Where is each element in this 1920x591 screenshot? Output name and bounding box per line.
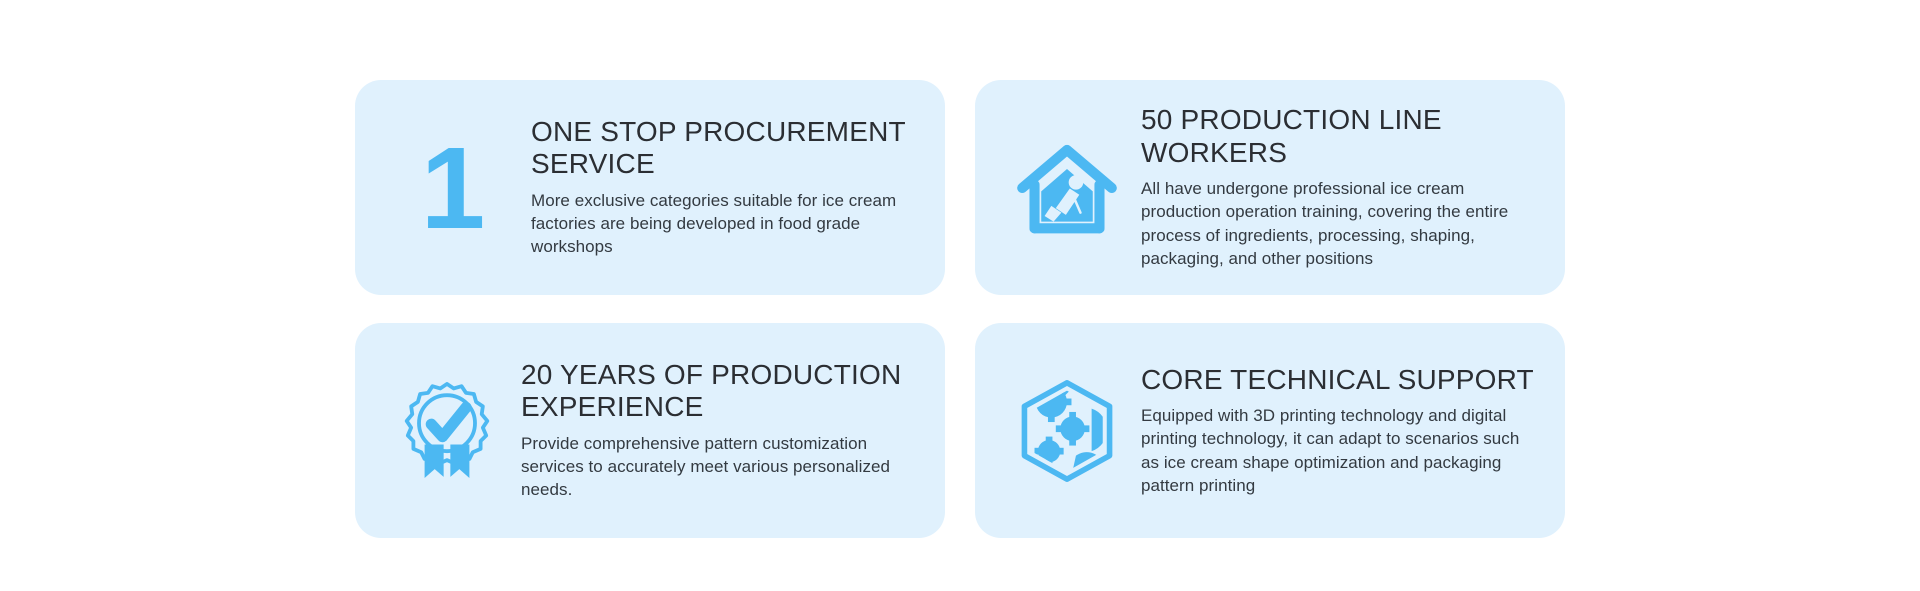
feature-card-production-line-workers[interactable]: 50 PRODUCTION LINE WORKERS All have unde… — [975, 80, 1565, 295]
feature-highlights-page: 1 ONE STOP PROCUREMENT SERVICE More excl… — [0, 0, 1920, 591]
card-figure — [997, 365, 1137, 497]
card-body: 50 PRODUCTION LINE WORKERS All have unde… — [1137, 104, 1539, 270]
card-description: All have undergone professional ice crea… — [1141, 177, 1523, 271]
card-description: Provide comprehensive pattern customizat… — [521, 432, 909, 502]
card-title: ONE STOP PROCUREMENT SERVICE — [531, 116, 919, 180]
card-description: Equipped with 3D printing technology and… — [1141, 404, 1523, 498]
feature-card-one-stop-procurement[interactable]: 1 ONE STOP PROCUREMENT SERVICE More excl… — [355, 80, 945, 295]
card-title: 50 PRODUCTION LINE WORKERS — [1141, 104, 1471, 168]
feature-card-core-technical-support[interactable]: CORE TECHNICAL SUPPORT Equipped with 3D … — [975, 323, 1565, 538]
number-one-marker: 1 — [421, 130, 484, 246]
house-worker-icon — [1011, 132, 1123, 244]
card-body: 20 YEARS OF PRODUCTION EXPERIENCE Provid… — [517, 359, 919, 502]
card-figure — [377, 365, 517, 497]
card-figure: 1 — [377, 122, 527, 254]
award-badge-check-icon — [391, 375, 503, 487]
card-body: ONE STOP PROCUREMENT SERVICE More exclus… — [527, 116, 919, 259]
card-body: CORE TECHNICAL SUPPORT Equipped with 3D … — [1137, 364, 1539, 498]
feature-card-production-experience[interactable]: 20 YEARS OF PRODUCTION EXPERIENCE Provid… — [355, 323, 945, 538]
card-title: 20 YEARS OF PRODUCTION EXPERIENCE — [521, 359, 919, 423]
hexagon-gears-icon — [1011, 375, 1123, 487]
feature-card-grid: 1 ONE STOP PROCUREMENT SERVICE More excl… — [355, 80, 1565, 538]
card-description: More exclusive categories suitable for i… — [531, 189, 916, 259]
card-title: CORE TECHNICAL SUPPORT — [1141, 364, 1539, 396]
card-figure — [997, 122, 1137, 254]
